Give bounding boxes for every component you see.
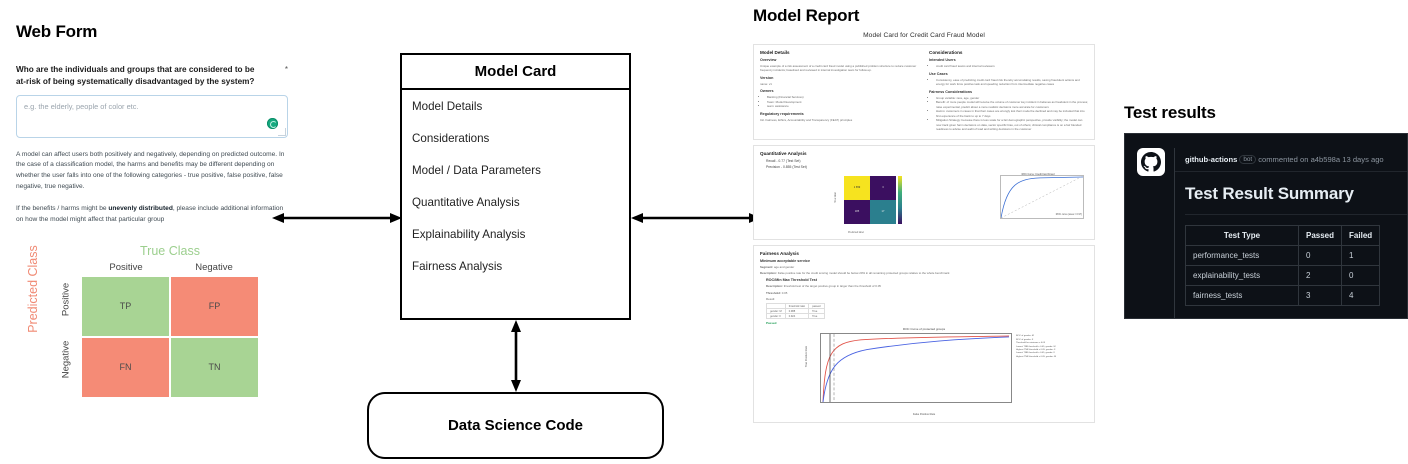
help-paragraph-2-pre: If the benefits / harms might be [16, 205, 108, 212]
github-logo-icon [1137, 148, 1165, 176]
github-comment-prefix: commented on [1258, 155, 1308, 164]
fairness-test-name: ROC/Min Max Threshold Test [766, 278, 1088, 282]
required-marker: * [285, 64, 288, 74]
test-result-summary-title: Test Result Summary [1185, 184, 1407, 204]
confusion-matrix-row-positive: Positive [61, 270, 72, 328]
precision-metric: Precision - 0.855 (Test Set) [766, 165, 1088, 169]
overview-heading: Overview [760, 58, 919, 62]
model-report-heading: Model Report [753, 6, 1095, 26]
fairness-considerations-item: Harms: customers in cases in that their … [936, 109, 1088, 118]
confusion-cell-tn: TN [171, 338, 258, 397]
question-label: Who are the individuals and groups that … [16, 64, 262, 88]
commit-sha-link[interactable]: a4b598a [1311, 155, 1341, 164]
owners-list: Banking (Financial Services) Team: Model… [767, 95, 919, 109]
regulatory-heading: Regulatory requirements [760, 112, 919, 116]
heatmap-xlabel: Predicted label [848, 231, 864, 234]
table-row: explainability_tests 2 0 [1186, 266, 1380, 286]
answer-textarea[interactable]: e.g. the elderly, people of color etc. [16, 95, 288, 138]
fairness-roc-title: ROC Curve of protected groups [774, 327, 1074, 331]
test-results-heading: Test results [1124, 103, 1408, 123]
table-header-row: Test Type Passed Failed [1186, 226, 1380, 246]
fairness-description: Description: False positive rate for the… [760, 271, 1088, 275]
fairness-test-description-label: Description: [766, 284, 783, 288]
fairness-roc-xlabel: False Positive Rate [774, 413, 1074, 416]
model-card-item-model-data-parameters[interactable]: Model / Data Parameters [412, 164, 619, 177]
model-card-item-explainability-analysis[interactable]: Explainability Analysis [412, 228, 619, 241]
model-report-document-title: Model Card for Credit Card Fraud Model [753, 32, 1095, 39]
roc-curve-legend: ROC curve (area = 0.97) [1056, 213, 1082, 217]
arrow-modelcard-to-report [631, 212, 761, 224]
fairness-test-description-value: threshold test of the target positive gr… [784, 284, 881, 288]
model-details-title: Model Details [760, 50, 919, 55]
github-timestamp: 13 days ago [1342, 155, 1383, 164]
web-form-panel: Web Form Who are the individuals and gro… [16, 22, 288, 404]
github-comment-meta: github-actionsbotcommented on a4b598a 13… [1175, 148, 1407, 172]
model-report-right-column: Considerations Intended Users credit car… [929, 50, 1088, 134]
answer-textarea-placeholder: e.g. the elderly, people of color etc. [24, 102, 139, 111]
quantitative-analysis-title: Quantitative Analysis [760, 151, 1088, 156]
use-cases-heading: Use Cases [929, 72, 1088, 76]
fairness-segment-value: age and gender [774, 265, 794, 269]
model-card-item-quantitative-analysis[interactable]: Quantitative Analysis [412, 196, 619, 209]
help-paragraph-2: If the benefits / harms might be unevenl… [16, 204, 288, 225]
divider [1185, 214, 1407, 215]
confusion-cell-fn: FN [82, 338, 169, 397]
help-paragraph-1: A model can affect users both positively… [16, 150, 288, 193]
model-report-details-card: Model Details Overview Unique example of… [753, 44, 1095, 140]
fairness-description-value: False positive rate for the credit scori… [778, 271, 950, 275]
cell-failed: 4 [1342, 286, 1380, 306]
confusion-cell-tp: TP [82, 277, 169, 336]
cell-test-type: performance_tests [1186, 246, 1299, 266]
confusion-heatmap-figure: 1 659 3 185 17 True label Predicted labe… [830, 174, 908, 234]
use-cases-item: Consistency, ease of predicting credit c… [936, 78, 1088, 87]
col-passed: Passed [1299, 226, 1342, 246]
legend-item: Highest TNR threshold = 0.05, gender: M [1016, 356, 1074, 359]
confusion-matrix-col-negative: Negative [170, 262, 258, 273]
model-card-section-list: Model Details Considerations Model / Dat… [402, 90, 629, 273]
roc-curve-figure: ROC Curve: Credit Card Fraud ROC curve (… [988, 173, 1088, 229]
col-test-type: Test Type [1186, 226, 1299, 246]
confusion-matrix-col-positive: Positive [82, 262, 170, 273]
cell-test-type: fairness_tests [1186, 286, 1299, 306]
fairness-considerations-item: Mitigation Strategy: because there is le… [936, 118, 1088, 132]
cell-failed: 1 [1342, 246, 1380, 266]
confusion-matrix-true-class-label: True Class [82, 244, 258, 258]
fairness-td: 0.924 [785, 314, 808, 319]
heatmap-colorbar [898, 176, 902, 224]
fairness-subtitle: Minimum acceptable service [760, 259, 1088, 263]
model-card-item-fairness-analysis[interactable]: Fairness Analysis [412, 260, 619, 273]
table-row: fairness_tests 3 4 [1186, 286, 1380, 306]
github-comment-body: github-actionsbotcommented on a4b598a 13… [1174, 148, 1407, 318]
fairness-description-label: Description: [760, 271, 777, 275]
github-author[interactable]: github-actions [1185, 155, 1237, 164]
confusion-matrix-grid: TP FP FN TN [82, 277, 258, 397]
fairness-considerations-heading: Fairness Considerations [929, 90, 1088, 94]
arrow-form-to-modelcard [272, 212, 402, 224]
test-result-table: Test Type Passed Failed performance_test… [1185, 225, 1380, 306]
fairness-td: True [809, 314, 824, 319]
bot-badge: bot [1239, 155, 1256, 164]
heatmap-cell: 3 [870, 176, 896, 200]
cell-test-type: explainability_tests [1186, 266, 1299, 286]
confusion-matrix-figure: True Class Positive Negative Predicted C… [16, 244, 268, 404]
fairness-segment-label: Segment: [760, 265, 773, 269]
owners-heading: Owners [760, 89, 919, 93]
intended-users-heading: Intended Users [929, 58, 1088, 62]
fairness-pass-tag: Passed [766, 321, 1088, 325]
heatmap-cell: 17 [870, 200, 896, 224]
fairness-segment: Segment: age and gender [760, 265, 1088, 269]
fairness-considerations-list: Group variable: race, age, gender Benefi… [936, 96, 1088, 132]
version-heading: Version [760, 76, 919, 80]
fairness-threshold: Threshold: 0.05 [766, 291, 1088, 295]
arrow-modelcard-to-code [510, 320, 522, 392]
fairness-roc-figure: ROC Curve of protected groups True Posit… [774, 327, 1074, 417]
fairness-td: gender: F [767, 314, 786, 319]
help-paragraph-2-bold: unevenly distributed [108, 205, 172, 212]
model-card-item-considerations[interactable]: Considerations [412, 132, 619, 145]
model-report-fairness-card: Fairness Analysis Minimum acceptable ser… [753, 245, 1095, 424]
data-science-code-label: Data Science Code [448, 417, 583, 434]
table-row: gender: F 0.924 True [767, 314, 825, 319]
roc-curve-plot-area [1000, 175, 1084, 219]
considerations-title: Considerations [929, 50, 1088, 55]
github-comment-panel: github-actionsbotcommented on a4b598a 13… [1124, 133, 1408, 319]
use-cases-list: Consistency, ease of predicting credit c… [936, 78, 1088, 87]
model-report-left-column: Model Details Overview Unique example of… [760, 50, 919, 134]
cell-failed: 0 [1342, 266, 1380, 286]
regulatory-text: Intl. Fairness, Ethics, Accountability a… [760, 118, 919, 122]
recall-metric: Recall - 0.77 (Test Set) [766, 159, 1088, 163]
fairness-result-label: Result: [766, 297, 1088, 301]
test-results-panel: Test results github-actionsbotcommented … [1124, 103, 1408, 319]
fairness-considerations-item: Benefit: of more people model will recei… [936, 100, 1088, 109]
heatmap-ylabel: True label [834, 192, 837, 203]
data-science-code-box: Data Science Code [367, 392, 664, 459]
cell-passed: 0 [1299, 246, 1342, 266]
cell-passed: 3 [1299, 286, 1342, 306]
table-row: performance_tests 0 1 [1186, 246, 1380, 266]
fairness-threshold-label: Threshold: [766, 291, 781, 295]
quantitative-figures: 1 659 3 185 17 True label Predicted labe… [760, 171, 1088, 234]
owners-item: team: assistance [767, 104, 919, 109]
fairness-analysis-title: Fairness Analysis [760, 251, 1088, 256]
grammarly-badge-icon[interactable] [267, 118, 278, 129]
model-card-box: Model Card Model Details Considerations … [400, 53, 631, 320]
intended-users-list: credit card fraud teams and internal rev… [936, 64, 1088, 69]
web-form-heading: Web Form [16, 22, 288, 42]
model-report-quantitative-card: Quantitative Analysis Recall - 0.77 (Tes… [753, 145, 1095, 240]
confusion-heatmap-grid: 1 659 3 185 17 [844, 176, 896, 224]
fairness-roc-legend: ROC of gender: M ROC of gender: F Thresh… [1016, 335, 1074, 359]
fairness-test-description: Description: threshold test of the targe… [766, 284, 1088, 288]
confusion-matrix-row-negative: Negative [61, 330, 72, 388]
fairness-threshold-value: 0.05 [782, 291, 788, 295]
confusion-matrix-predicted-class-label: Predicted Class [26, 234, 40, 344]
model-card-item-model-details[interactable]: Model Details [412, 100, 619, 113]
heatmap-cell: 1 659 [844, 176, 870, 200]
fairness-roc-plot-area [820, 333, 1012, 403]
model-card-title: Model Card [402, 55, 629, 90]
model-report-panel: Model Report Model Card for Credit Card … [753, 6, 1095, 428]
cell-passed: 2 [1299, 266, 1342, 286]
confusion-cell-fp: FP [171, 277, 258, 336]
resize-handle[interactable] [278, 128, 286, 136]
question-row: Who are the individuals and groups that … [16, 64, 288, 88]
fairness-roc-ylabel: True Positive Rate [805, 346, 808, 367]
fairness-result-table: threshold ratio passed gender: M 0.988 T… [766, 303, 825, 319]
heatmap-cell: 185 [844, 200, 870, 224]
col-failed: Failed [1342, 226, 1380, 246]
version-text: name: v1 [760, 82, 919, 86]
overview-text: Unique example of a risk assessment of a… [760, 64, 919, 73]
intended-users-item: credit card fraud teams and internal rev… [936, 64, 1088, 69]
